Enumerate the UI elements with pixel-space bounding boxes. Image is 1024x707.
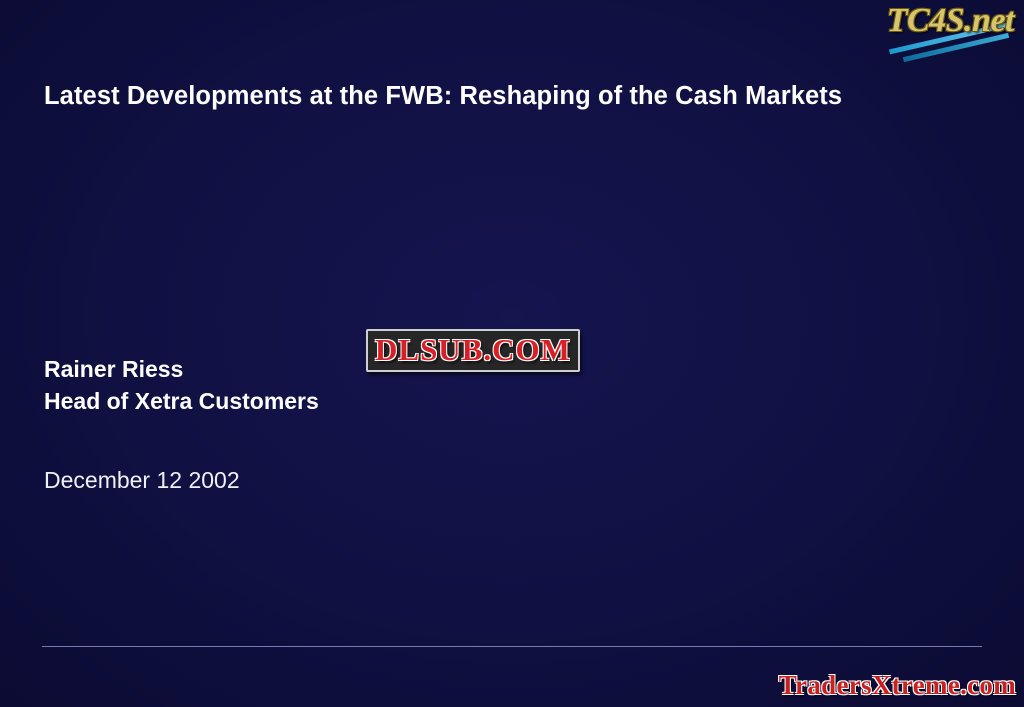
footer-divider bbox=[42, 646, 982, 647]
slide-date: December 12 2002 bbox=[44, 466, 240, 496]
slide-canvas: Latest Developments at the FWB: Reshapin… bbox=[0, 0, 1024, 707]
author-block: Rainer Riess Head of Xetra Customers bbox=[44, 354, 319, 417]
watermark-tc4s-text: TC4S.net bbox=[887, 4, 1014, 38]
page-title: Latest Developments at the FWB: Reshapin… bbox=[44, 80, 924, 114]
watermark-dlsub: DLSUB.COM bbox=[366, 329, 580, 372]
author-role: Head of Xetra Customers bbox=[44, 386, 319, 418]
watermark-tradersxtreme: TradersXtreme.com bbox=[779, 672, 1016, 699]
author-name: Rainer Riess bbox=[44, 354, 319, 386]
watermark-dlsub-text: DLSUB.COM bbox=[375, 334, 571, 365]
watermark-tc4s: TC4S.net bbox=[820, 2, 1020, 54]
